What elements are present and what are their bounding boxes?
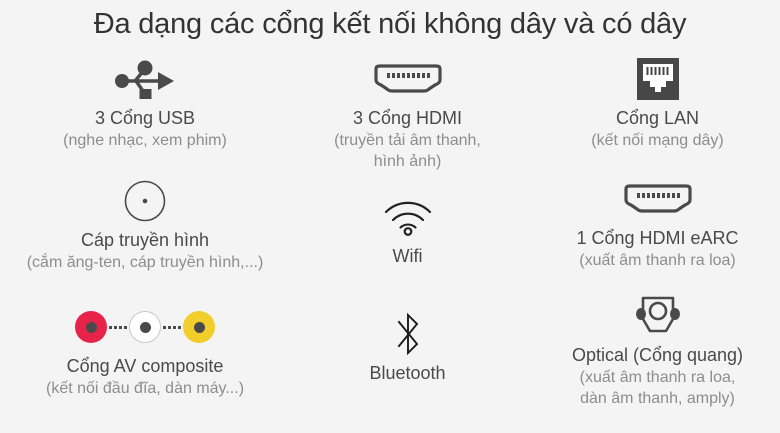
- feature-usb: 3 Cổng USB (nghe nhạc, xem phim): [0, 55, 290, 151]
- page-title: Đa dạng các cổng kết nối không dây và có…: [0, 8, 780, 41]
- feature-label: Optical (Cổng quang): [535, 344, 780, 367]
- feature-label: Cổng AV composite: [0, 355, 290, 378]
- av-plug-audio-right: [183, 311, 215, 343]
- lan-port-icon: [535, 55, 780, 103]
- av-cable-dots: [107, 325, 129, 329]
- feature-bluetooth: Bluetooth: [280, 310, 535, 385]
- feature-label: Cổng LAN: [535, 107, 780, 130]
- features-grid: 3 Cổng USB (nghe nhạc, xem phim) Cáp tru…: [0, 55, 780, 433]
- av-composite-icon: [0, 303, 290, 351]
- feature-lan: Cổng LAN (kết nối mạng dây): [535, 55, 780, 151]
- feature-sub-line: (truyền tải âm thanh,: [280, 130, 535, 151]
- av-plug-video: [75, 311, 107, 343]
- feature-sub-line: (kết nối đầu đĩa, dàn máy...): [0, 378, 290, 399]
- feature-label: Bluetooth: [280, 362, 535, 385]
- feature-sub-line: dàn âm thanh, amply): [535, 388, 780, 409]
- bluetooth-icon: [280, 310, 535, 358]
- feature-label: 3 Cổng USB: [0, 107, 290, 130]
- av-plug-pin: [86, 322, 97, 333]
- feature-hdmi-earc: 1 Cổng HDMI eARC (xuất âm thanh ra loa): [535, 175, 780, 271]
- feature-wifi: Wifi: [280, 193, 535, 268]
- av-cable-dots: [161, 325, 183, 329]
- connectivity-infographic: Đa dạng các cổng kết nối không dây và có…: [0, 0, 780, 433]
- hdmi-port-icon: [535, 175, 780, 223]
- feature-sub-line: (xuất âm thanh ra loa): [535, 250, 780, 271]
- hdmi-port-icon: [280, 55, 535, 103]
- wifi-icon: [280, 193, 535, 241]
- feature-hdmi: 3 Cổng HDMI (truyền tải âm thanh, hình ả…: [280, 55, 535, 172]
- av-plug-pin: [194, 322, 205, 333]
- feature-sub-line: (cắm ăng-ten, cáp truyền hình,...): [0, 252, 290, 273]
- usb-icon: [0, 55, 290, 103]
- feature-label: Wifi: [280, 245, 535, 268]
- av-plug-audio-left: [129, 311, 161, 343]
- feature-optical: Optical (Cổng quang) (xuất âm thanh ra l…: [535, 292, 780, 409]
- av-plug-pin: [140, 322, 151, 333]
- feature-coaxial: Cáp truyền hình (cắm ăng-ten, cáp truyền…: [0, 177, 290, 273]
- coaxial-cable-icon: [0, 177, 290, 225]
- feature-label: 1 Cổng HDMI eARC: [535, 227, 780, 250]
- feature-label: 3 Cổng HDMI: [280, 107, 535, 130]
- feature-av-composite: Cổng AV composite (kết nối đầu đĩa, dàn …: [0, 303, 290, 399]
- optical-port-icon: [535, 292, 780, 340]
- feature-sub-line: hình ảnh): [280, 151, 535, 172]
- feature-sub-line: (kết nối mạng dây): [535, 130, 780, 151]
- feature-sub-line: (nghe nhạc, xem phim): [0, 130, 290, 151]
- feature-sub-line: (xuất âm thanh ra loa,: [535, 367, 780, 388]
- feature-label: Cáp truyền hình: [0, 229, 290, 252]
